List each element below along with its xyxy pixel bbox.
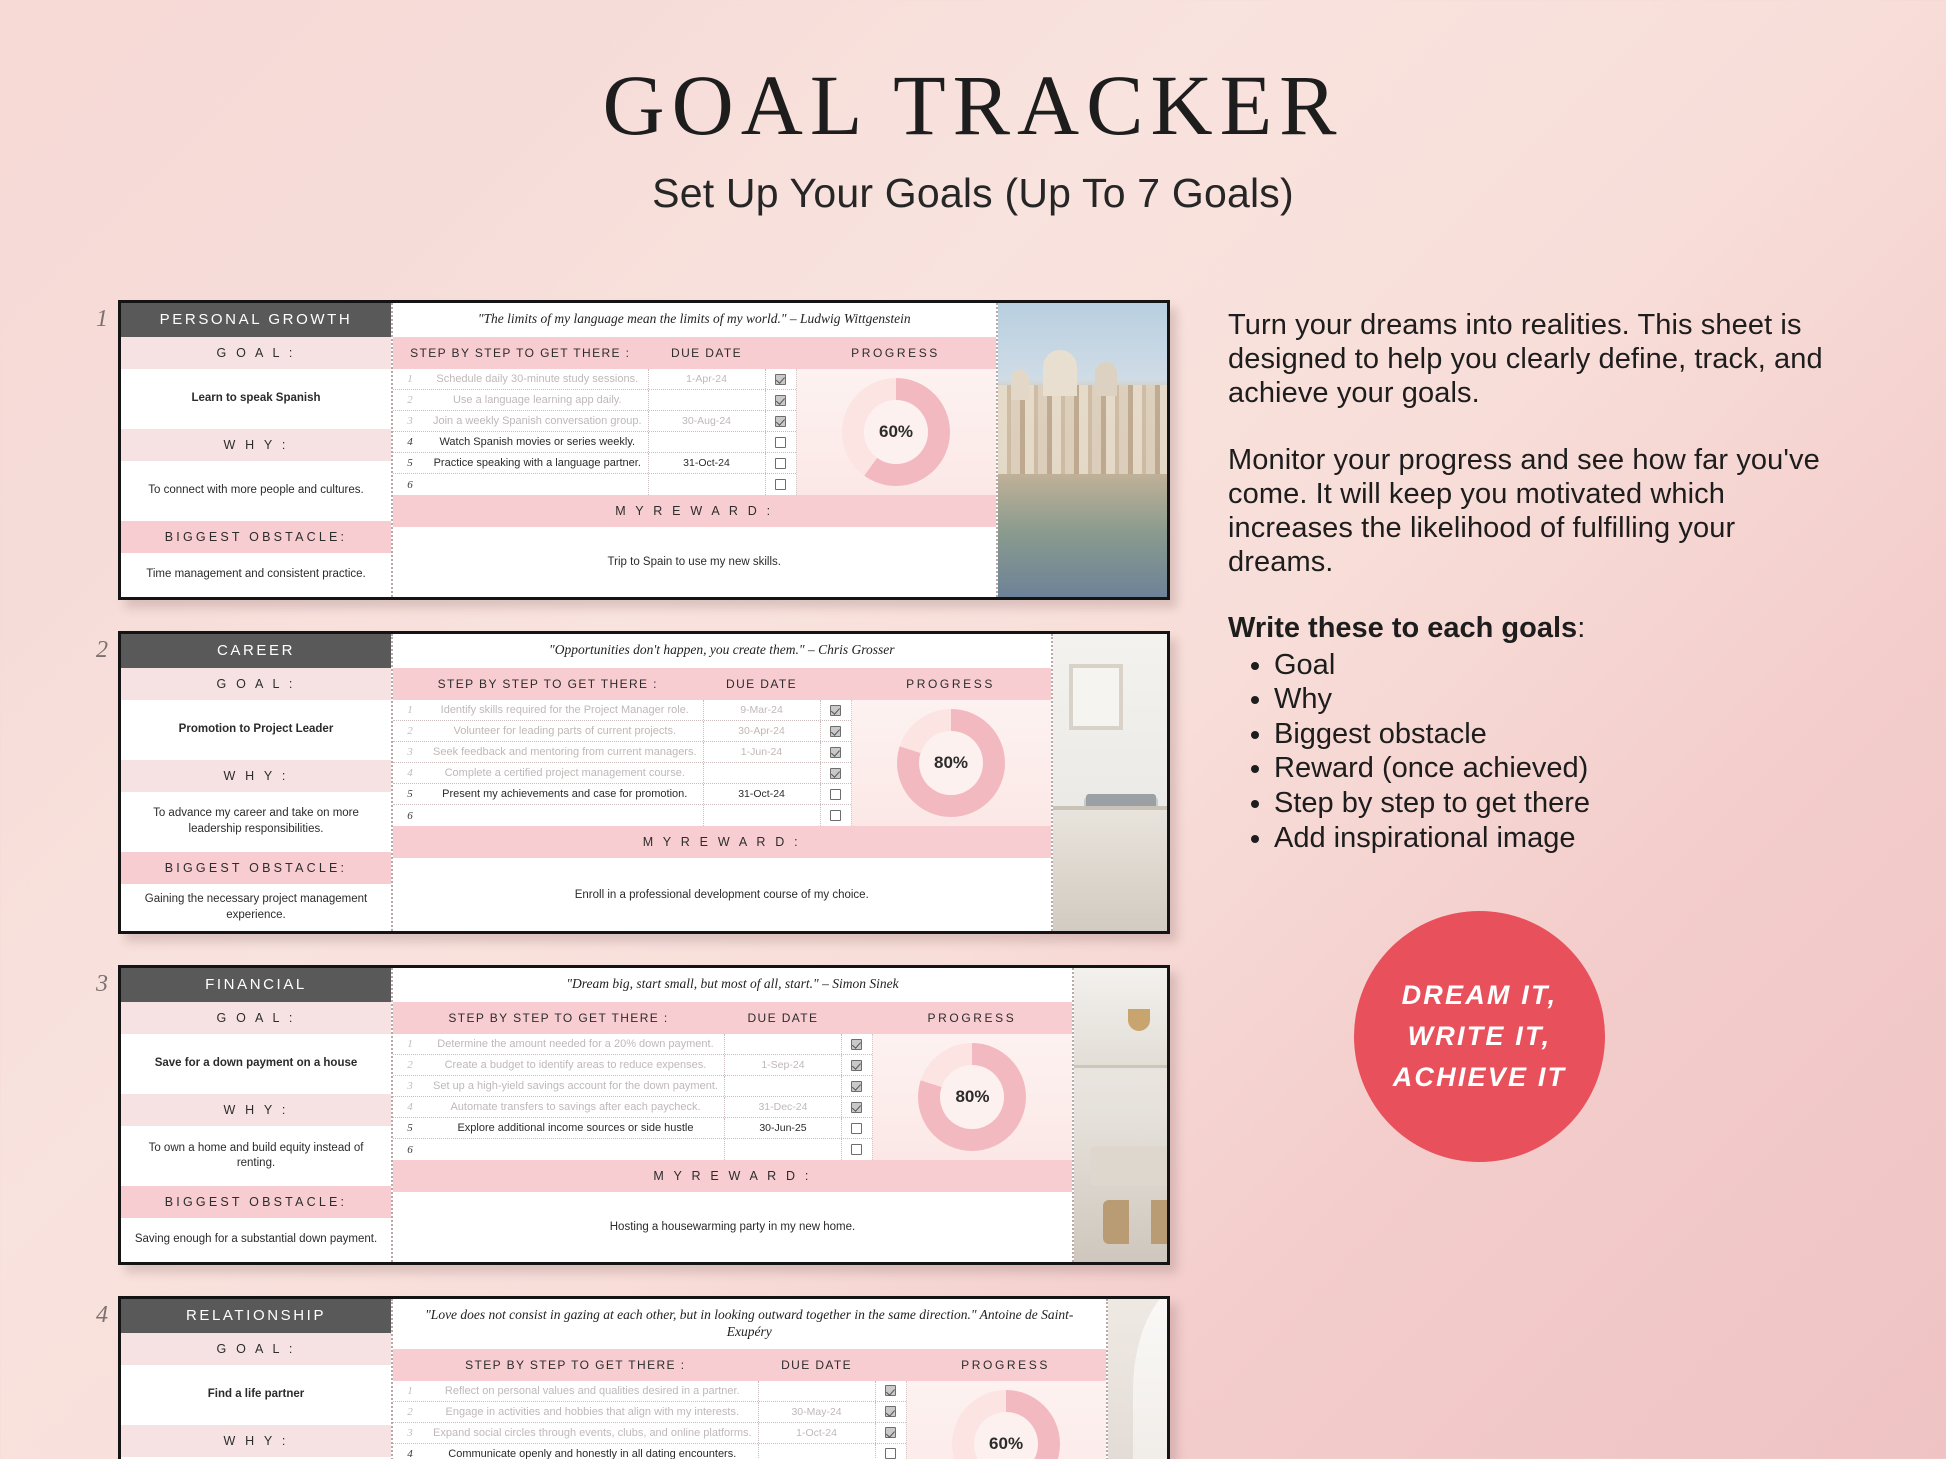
stools-shape — [1103, 1200, 1170, 1244]
steps-header-label: STEP BY STEP TO GET THERE : — [393, 1349, 758, 1381]
list-item: Step by step to get there — [1274, 787, 1830, 821]
checkbox-checked-icon[interactable] — [775, 374, 786, 385]
table-row[interactable]: 3 Expand social circles through events, … — [393, 1423, 906, 1444]
page-title: GOAL TRACKER — [0, 62, 1946, 148]
progress-percent-label: 80% — [934, 753, 968, 773]
step-due-date[interactable]: 1-Jun-24 — [703, 742, 821, 762]
checkbox-header-spacer — [821, 668, 851, 700]
table-row[interactable]: 2 Engage in activities and hobbies that … — [393, 1402, 906, 1423]
steps-rows: 1 Determine the amount needed for a 20% … — [393, 1034, 872, 1160]
step-number: 1 — [393, 704, 427, 716]
step-number: 5 — [393, 1122, 427, 1134]
step-text[interactable]: Create a budget to identify areas to red… — [427, 1059, 724, 1071]
step-text[interactable]: Seek feedback and mentoring from current… — [427, 746, 703, 758]
goal-card-body: PERSONAL GROWTH G O A L : Learn to speak… — [118, 300, 1170, 600]
step-checkbox-cell[interactable] — [766, 437, 796, 448]
steps-body: 1 Identify skills required for the Proje… — [393, 700, 1051, 826]
quote-text: "Opportunities don't happen, you create … — [393, 634, 1051, 668]
step-text[interactable]: Expand social circles through events, cl… — [427, 1427, 758, 1439]
progress-percent-label: 80% — [955, 1087, 989, 1107]
goal-card: 1 PERSONAL GROWTH G O A L : Learn to spe… — [118, 300, 1170, 600]
table-row[interactable]: 1 Schedule daily 30-minute study session… — [393, 369, 796, 390]
step-checkbox-cell[interactable] — [842, 1039, 872, 1050]
write-these-label: Write these to each goals — [1228, 612, 1577, 644]
checkbox-checked-icon[interactable] — [830, 768, 841, 779]
goal-card-body: CAREER G O A L : Promotion to Project Le… — [118, 631, 1170, 934]
progress-donut-chart: 60% — [842, 378, 950, 486]
steps-body: 1 Reflect on personal values and qualiti… — [393, 1381, 1106, 1459]
laptop-shape — [1086, 794, 1156, 830]
checkbox-checked-icon[interactable] — [851, 1060, 862, 1071]
step-due-date[interactable] — [758, 1444, 876, 1459]
checklist-bullets: GoalWhyBiggest obstacleReward (once achi… — [1274, 649, 1830, 856]
checkbox-unchecked-icon[interactable] — [775, 458, 786, 469]
home-office-photo — [1053, 634, 1170, 931]
reward-value[interactable]: Hosting a housewarming party in my new h… — [393, 1192, 1072, 1262]
step-checkbox-cell[interactable] — [842, 1081, 872, 1092]
checkbox-checked-icon[interactable] — [830, 747, 841, 758]
step-checkbox-cell[interactable] — [842, 1102, 872, 1113]
progress-cell: 60% — [796, 369, 996, 495]
checkbox-checked-icon[interactable] — [830, 705, 841, 716]
step-number: 3 — [393, 415, 427, 427]
step-text[interactable]: Schedule daily 30-minute study sessions. — [427, 373, 648, 385]
checkbox-unchecked-icon[interactable] — [851, 1123, 862, 1134]
checkbox-header-spacer — [766, 337, 796, 369]
step-checkbox-cell[interactable] — [766, 395, 796, 406]
step-number: 5 — [393, 457, 427, 469]
step-checkbox-cell[interactable] — [842, 1123, 872, 1134]
goal-detail-column: RELATIONSHIP G O A L : Find a life partn… — [121, 1299, 393, 1459]
progress-cell: 80% — [872, 1034, 1072, 1160]
obstacle-label: BIGGEST OBSTACLE: — [121, 521, 391, 553]
checkbox-unchecked-icon[interactable] — [885, 1448, 896, 1459]
step-number: 6 — [393, 1144, 427, 1156]
step-checkbox-cell[interactable] — [821, 810, 851, 821]
step-due-date[interactable] — [758, 1381, 876, 1401]
table-row[interactable]: 4 Communicate openly and honestly in all… — [393, 1444, 906, 1459]
steps-header-label: STEP BY STEP TO GET THERE : — [393, 1002, 724, 1034]
step-checkbox-cell[interactable] — [766, 479, 796, 490]
checkbox-checked-icon[interactable] — [830, 726, 841, 737]
step-checkbox-cell[interactable] — [766, 374, 796, 385]
reward-label: M Y R E W A R D : — [393, 826, 1051, 858]
inspirational-image[interactable] — [1074, 968, 1170, 1262]
step-number: 1 — [393, 1038, 427, 1050]
step-checkbox-cell[interactable] — [821, 789, 851, 800]
write-these-colon: : — [1577, 612, 1585, 644]
step-checkbox-cell[interactable] — [876, 1427, 906, 1438]
checkbox-unchecked-icon[interactable] — [830, 810, 841, 821]
step-number: 4 — [393, 1101, 427, 1113]
step-due-date[interactable]: 9-Mar-24 — [703, 700, 821, 720]
progress-header-label: PROGRESS — [851, 668, 1051, 700]
checkbox-checked-icon[interactable] — [885, 1406, 896, 1417]
checkbox-unchecked-icon[interactable] — [851, 1144, 862, 1155]
step-due-date[interactable]: 31-Oct-24 — [648, 453, 766, 473]
badge-text: DREAM IT, WRITE IT, ACHIEVE IT — [1393, 975, 1567, 1098]
step-number: 5 — [393, 788, 427, 800]
step-number: 4 — [393, 767, 427, 779]
obstacle-value[interactable]: Gaining the necessary project management… — [121, 884, 391, 931]
step-text[interactable]: Identify skills required for the Project… — [427, 704, 703, 716]
step-due-date[interactable] — [724, 1034, 842, 1054]
table-row[interactable]: 6 — [393, 805, 851, 826]
steps-header-label: STEP BY STEP TO GET THERE : — [393, 337, 648, 369]
category-banner: CAREER — [121, 634, 391, 668]
steps-column: "Opportunities don't happen, you create … — [393, 634, 1053, 931]
step-checkbox-cell[interactable] — [876, 1448, 906, 1459]
kitchen-photo — [1074, 968, 1170, 1262]
checkbox-unchecked-icon[interactable] — [775, 479, 786, 490]
quote-text: "The limits of my language mean the limi… — [393, 303, 996, 337]
steps-header-row: STEP BY STEP TO GET THERE : DUE DATE PRO… — [393, 668, 1051, 700]
table-row[interactable]: 4 Automate transfers to savings after ea… — [393, 1097, 872, 1118]
step-text[interactable]: Present my achievements and case for pro… — [427, 788, 703, 800]
table-row[interactable]: 3 Join a weekly Spanish conversation gro… — [393, 411, 796, 432]
quote-text: "Dream big, start small, but most of all… — [393, 968, 1072, 1002]
step-number: 1 — [393, 373, 427, 385]
step-number: 6 — [393, 810, 427, 822]
step-text[interactable]: Engage in activities and hobbies that al… — [427, 1406, 758, 1418]
checkbox-checked-icon[interactable] — [851, 1039, 862, 1050]
goal-card-number: 1 — [96, 306, 108, 333]
steps-rows: 1 Reflect on personal values and qualiti… — [393, 1381, 906, 1459]
goal-label: G O A L : — [121, 668, 391, 700]
step-due-date[interactable] — [703, 763, 821, 783]
quote-text: "Love does not consist in gazing at each… — [393, 1299, 1106, 1349]
checkbox-checked-icon[interactable] — [885, 1427, 896, 1438]
table-row[interactable]: 2 Create a budget to identify areas to r… — [393, 1055, 872, 1076]
table-row[interactable]: 6 — [393, 1139, 872, 1160]
goal-card: 2 CAREER G O A L : Promotion to Project … — [118, 631, 1170, 934]
table-row[interactable]: 1 Reflect on personal values and qualiti… — [393, 1381, 906, 1402]
goal-label: G O A L : — [121, 337, 391, 369]
step-number: 3 — [393, 1427, 427, 1439]
reward-value[interactable]: Trip to Spain to use my new skills. — [393, 527, 996, 597]
table-row[interactable]: 6 — [393, 474, 796, 495]
list-item: Goal — [1274, 649, 1830, 683]
step-due-date[interactable]: 1-Sep-24 — [724, 1055, 842, 1075]
list-item: Reward (once achieved) — [1274, 752, 1830, 786]
steps-body: 1 Schedule daily 30-minute study session… — [393, 369, 996, 495]
steps-header-label: STEP BY STEP TO GET THERE : — [393, 668, 703, 700]
pendant-lamp-shape — [1128, 1009, 1150, 1031]
checkbox-checked-icon[interactable] — [775, 395, 786, 406]
inspirational-image[interactable] — [1053, 634, 1170, 931]
obstacle-label: BIGGEST OBSTACLE: — [121, 1186, 391, 1218]
step-due-date[interactable]: 30-May-24 — [758, 1402, 876, 1422]
step-due-date[interactable] — [724, 1076, 842, 1096]
progress-header-label: PROGRESS — [906, 1349, 1106, 1381]
why-value[interactable]: To connect with more people and cultures… — [121, 461, 391, 521]
step-number: 4 — [393, 1448, 427, 1459]
why-label: W H Y : — [121, 760, 391, 792]
write-these-heading: Write these to each goals: — [1228, 612, 1830, 645]
goal-value[interactable]: Promotion to Project Leader — [121, 700, 391, 760]
step-text[interactable]: Reflect on personal values and qualities… — [427, 1385, 758, 1397]
category-banner: RELATIONSHIP — [121, 1299, 391, 1333]
steps-body: 1 Determine the amount needed for a 20% … — [393, 1034, 1072, 1160]
checkbox-checked-icon[interactable] — [775, 416, 786, 427]
progress-header-label: PROGRESS — [872, 1002, 1072, 1034]
step-text[interactable]: Automate transfers to savings after each… — [427, 1101, 724, 1113]
obstacle-value[interactable]: Saving enough for a substantial down pay… — [121, 1218, 391, 1262]
info-sidebar: Turn your dreams into realities. This sh… — [1170, 300, 1830, 1162]
checkbox-header-spacer — [842, 1002, 872, 1034]
due-date-header-label: DUE DATE — [648, 337, 766, 369]
step-number: 2 — [393, 394, 427, 406]
goal-detail-column: PERSONAL GROWTH G O A L : Learn to speak… — [121, 303, 393, 597]
goal-value[interactable]: Learn to speak Spanish — [121, 369, 391, 429]
step-text[interactable]: Communicate openly and honestly in all d… — [427, 1448, 758, 1459]
step-due-date[interactable]: 31-Oct-24 — [703, 784, 821, 804]
goal-card-number: 4 — [96, 1302, 108, 1329]
due-date-header-label: DUE DATE — [724, 1002, 842, 1034]
goal-card-body: RELATIONSHIP G O A L : Find a life partn… — [118, 1296, 1170, 1459]
progress-cell: 60% — [906, 1381, 1106, 1459]
steps-column: "The limits of my language mean the limi… — [393, 303, 998, 597]
goal-card-body: FINANCIAL G O A L : Save for a down paym… — [118, 965, 1170, 1265]
table-row[interactable]: 3 Seek feedback and mentoring from curre… — [393, 742, 851, 763]
goal-card-number: 3 — [96, 971, 108, 998]
step-number: 6 — [393, 479, 427, 491]
dream-write-achieve-badge: DREAM IT, WRITE IT, ACHIEVE IT — [1354, 911, 1605, 1162]
bride-bouquet-photo — [1108, 1299, 1170, 1459]
step-number: 4 — [393, 436, 427, 448]
why-label: W H Y : — [121, 1425, 391, 1457]
checkbox-unchecked-icon[interactable] — [775, 437, 786, 448]
checkbox-header-spacer — [876, 1349, 906, 1381]
step-text[interactable]: Use a language learning app daily. — [427, 394, 648, 406]
progress-header-label: PROGRESS — [796, 337, 996, 369]
reward-label: M Y R E W A R D : — [393, 495, 996, 527]
step-due-date[interactable]: 30-Aug-24 — [648, 411, 766, 431]
step-text[interactable]: Explore additional income sources or sid… — [427, 1122, 724, 1134]
progress-percent-label: 60% — [879, 422, 913, 442]
intro-paragraph-1: Turn your dreams into realities. This sh… — [1228, 308, 1830, 411]
why-label: W H Y : — [121, 1094, 391, 1126]
progress-donut-chart: 80% — [897, 709, 1005, 817]
step-text[interactable]: Watch Spanish movies or series weekly. — [427, 436, 648, 448]
why-value[interactable]: To own a home and build equity instead o… — [121, 1126, 391, 1186]
steps-column: "Love does not consist in gazing at each… — [393, 1299, 1108, 1459]
goal-value[interactable]: Save for a down payment on a house — [121, 1034, 391, 1094]
goal-cards-column: 1 PERSONAL GROWTH G O A L : Learn to spe… — [0, 300, 1170, 1459]
inspirational-image[interactable] — [1108, 1299, 1170, 1459]
step-number: 3 — [393, 746, 427, 758]
goal-label: G O A L : — [121, 1002, 391, 1034]
list-item: Why — [1274, 683, 1830, 717]
table-row[interactable]: 5 Present my achievements and case for p… — [393, 784, 851, 805]
badge-line-3: ACHIEVE IT — [1393, 1057, 1567, 1098]
step-checkbox-cell[interactable] — [821, 726, 851, 737]
progress-donut-chart: 80% — [918, 1043, 1026, 1151]
step-checkbox-cell[interactable] — [821, 768, 851, 779]
progress-donut-chart: 60% — [952, 1390, 1060, 1459]
step-checkbox-cell[interactable] — [876, 1406, 906, 1417]
step-due-date[interactable]: 30-Jun-25 — [724, 1118, 842, 1138]
why-value[interactable]: To advance my career and take on more le… — [121, 792, 391, 852]
goal-detail-column: FINANCIAL G O A L : Save for a down paym… — [121, 968, 393, 1262]
step-checkbox-cell[interactable] — [876, 1385, 906, 1396]
step-checkbox-cell[interactable] — [842, 1144, 872, 1155]
table-row[interactable]: 4 Complete a certified project managemen… — [393, 763, 851, 784]
steps-rows: 1 Identify skills required for the Proje… — [393, 700, 851, 826]
step-due-date[interactable]: 1-Apr-24 — [648, 369, 766, 389]
goal-label: G O A L : — [121, 1333, 391, 1365]
badge-line-1: DREAM IT, — [1393, 975, 1567, 1016]
step-text[interactable]: Volunteer for leading parts of current p… — [427, 725, 703, 737]
step-due-date[interactable] — [703, 805, 821, 826]
step-number: 1 — [393, 1385, 427, 1397]
checkbox-checked-icon[interactable] — [885, 1385, 896, 1396]
list-item: Biggest obstacle — [1274, 718, 1830, 752]
step-due-date[interactable] — [648, 474, 766, 495]
checkbox-unchecked-icon[interactable] — [830, 789, 841, 800]
goal-card: 3 FINANCIAL G O A L : Save for a down pa… — [118, 965, 1170, 1265]
list-item: Add inspirational image — [1274, 822, 1830, 856]
step-number: 2 — [393, 1059, 427, 1071]
step-due-date[interactable] — [648, 432, 766, 452]
step-due-date[interactable]: 31-Dec-24 — [724, 1097, 842, 1117]
inspirational-image[interactable] — [998, 303, 1170, 597]
steps-header-row: STEP BY STEP TO GET THERE : DUE DATE PRO… — [393, 1349, 1106, 1381]
table-row[interactable]: 2 Use a language learning app daily. — [393, 390, 796, 411]
steps-rows: 1 Schedule daily 30-minute study session… — [393, 369, 796, 495]
goal-card-number: 2 — [96, 637, 108, 664]
table-row[interactable]: 5 Explore additional income sources or s… — [393, 1118, 872, 1139]
steps-column: "Dream big, start small, but most of all… — [393, 968, 1074, 1262]
obstacle-value[interactable]: Time management and consistent practice. — [121, 553, 391, 597]
page-header: GOAL TRACKER Set Up Your Goals (Up To 7 … — [0, 0, 1946, 217]
obstacle-label: BIGGEST OBSTACLE: — [121, 852, 391, 884]
step-checkbox-cell[interactable] — [766, 458, 796, 469]
table-row[interactable]: 1 Identify skills required for the Proje… — [393, 700, 851, 721]
reward-label: M Y R E W A R D : — [393, 1160, 1072, 1192]
table-row[interactable]: 5 Practice speaking with a language part… — [393, 453, 796, 474]
table-row[interactable]: 4 Watch Spanish movies or series weekly. — [393, 432, 796, 453]
reward-value[interactable]: Enroll in a professional development cou… — [393, 858, 1051, 931]
step-due-date[interactable] — [724, 1139, 842, 1160]
step-checkbox-cell[interactable] — [842, 1060, 872, 1071]
checkbox-checked-icon[interactable] — [851, 1102, 862, 1113]
steps-header-row: STEP BY STEP TO GET THERE : DUE DATE PRO… — [393, 337, 996, 369]
step-checkbox-cell[interactable] — [821, 747, 851, 758]
step-number: 2 — [393, 1406, 427, 1418]
steps-header-row: STEP BY STEP TO GET THERE : DUE DATE PRO… — [393, 1002, 1072, 1034]
step-text[interactable]: Practice speaking with a language partne… — [427, 457, 648, 469]
intro-paragraph-2: Monitor your progress and see how far yo… — [1228, 443, 1830, 580]
step-due-date[interactable]: 30-Apr-24 — [703, 721, 821, 741]
due-date-header-label: DUE DATE — [703, 668, 821, 700]
goal-value[interactable]: Find a life partner — [121, 1365, 391, 1425]
due-date-header-label: DUE DATE — [758, 1349, 876, 1381]
step-checkbox-cell[interactable] — [821, 705, 851, 716]
badge-line-2: WRITE IT, — [1393, 1016, 1567, 1057]
table-row[interactable]: 3 Set up a high-yield savings account fo… — [393, 1076, 872, 1097]
goal-card: 4 RELATIONSHIP G O A L : Find a life par… — [118, 1296, 1170, 1459]
coastal-city-photo — [998, 303, 1170, 597]
step-text[interactable]: Set up a high-yield savings account for … — [427, 1080, 724, 1092]
table-row[interactable]: 2 Volunteer for leading parts of current… — [393, 721, 851, 742]
step-text[interactable]: Complete a certified project management … — [427, 767, 703, 779]
page-subtitle: Set Up Your Goals (Up To 7 Goals) — [0, 170, 1946, 217]
step-text[interactable]: Determine the amount needed for a 20% do… — [427, 1038, 724, 1050]
step-number: 2 — [393, 725, 427, 737]
step-due-date[interactable]: 1-Oct-24 — [758, 1423, 876, 1443]
step-text[interactable]: Join a weekly Spanish conversation group… — [427, 415, 648, 427]
table-row[interactable]: 1 Determine the amount needed for a 20% … — [393, 1034, 872, 1055]
step-due-date[interactable] — [648, 390, 766, 410]
step-checkbox-cell[interactable] — [766, 416, 796, 427]
step-number: 3 — [393, 1080, 427, 1092]
checkbox-checked-icon[interactable] — [851, 1081, 862, 1092]
why-label: W H Y : — [121, 429, 391, 461]
category-banner: FINANCIAL — [121, 968, 391, 1002]
progress-cell: 80% — [851, 700, 1051, 826]
category-banner: PERSONAL GROWTH — [121, 303, 391, 337]
page-content: 1 PERSONAL GROWTH G O A L : Learn to spe… — [0, 300, 1946, 1459]
goal-detail-column: CAREER G O A L : Promotion to Project Le… — [121, 634, 393, 931]
progress-percent-label: 60% — [989, 1434, 1023, 1454]
